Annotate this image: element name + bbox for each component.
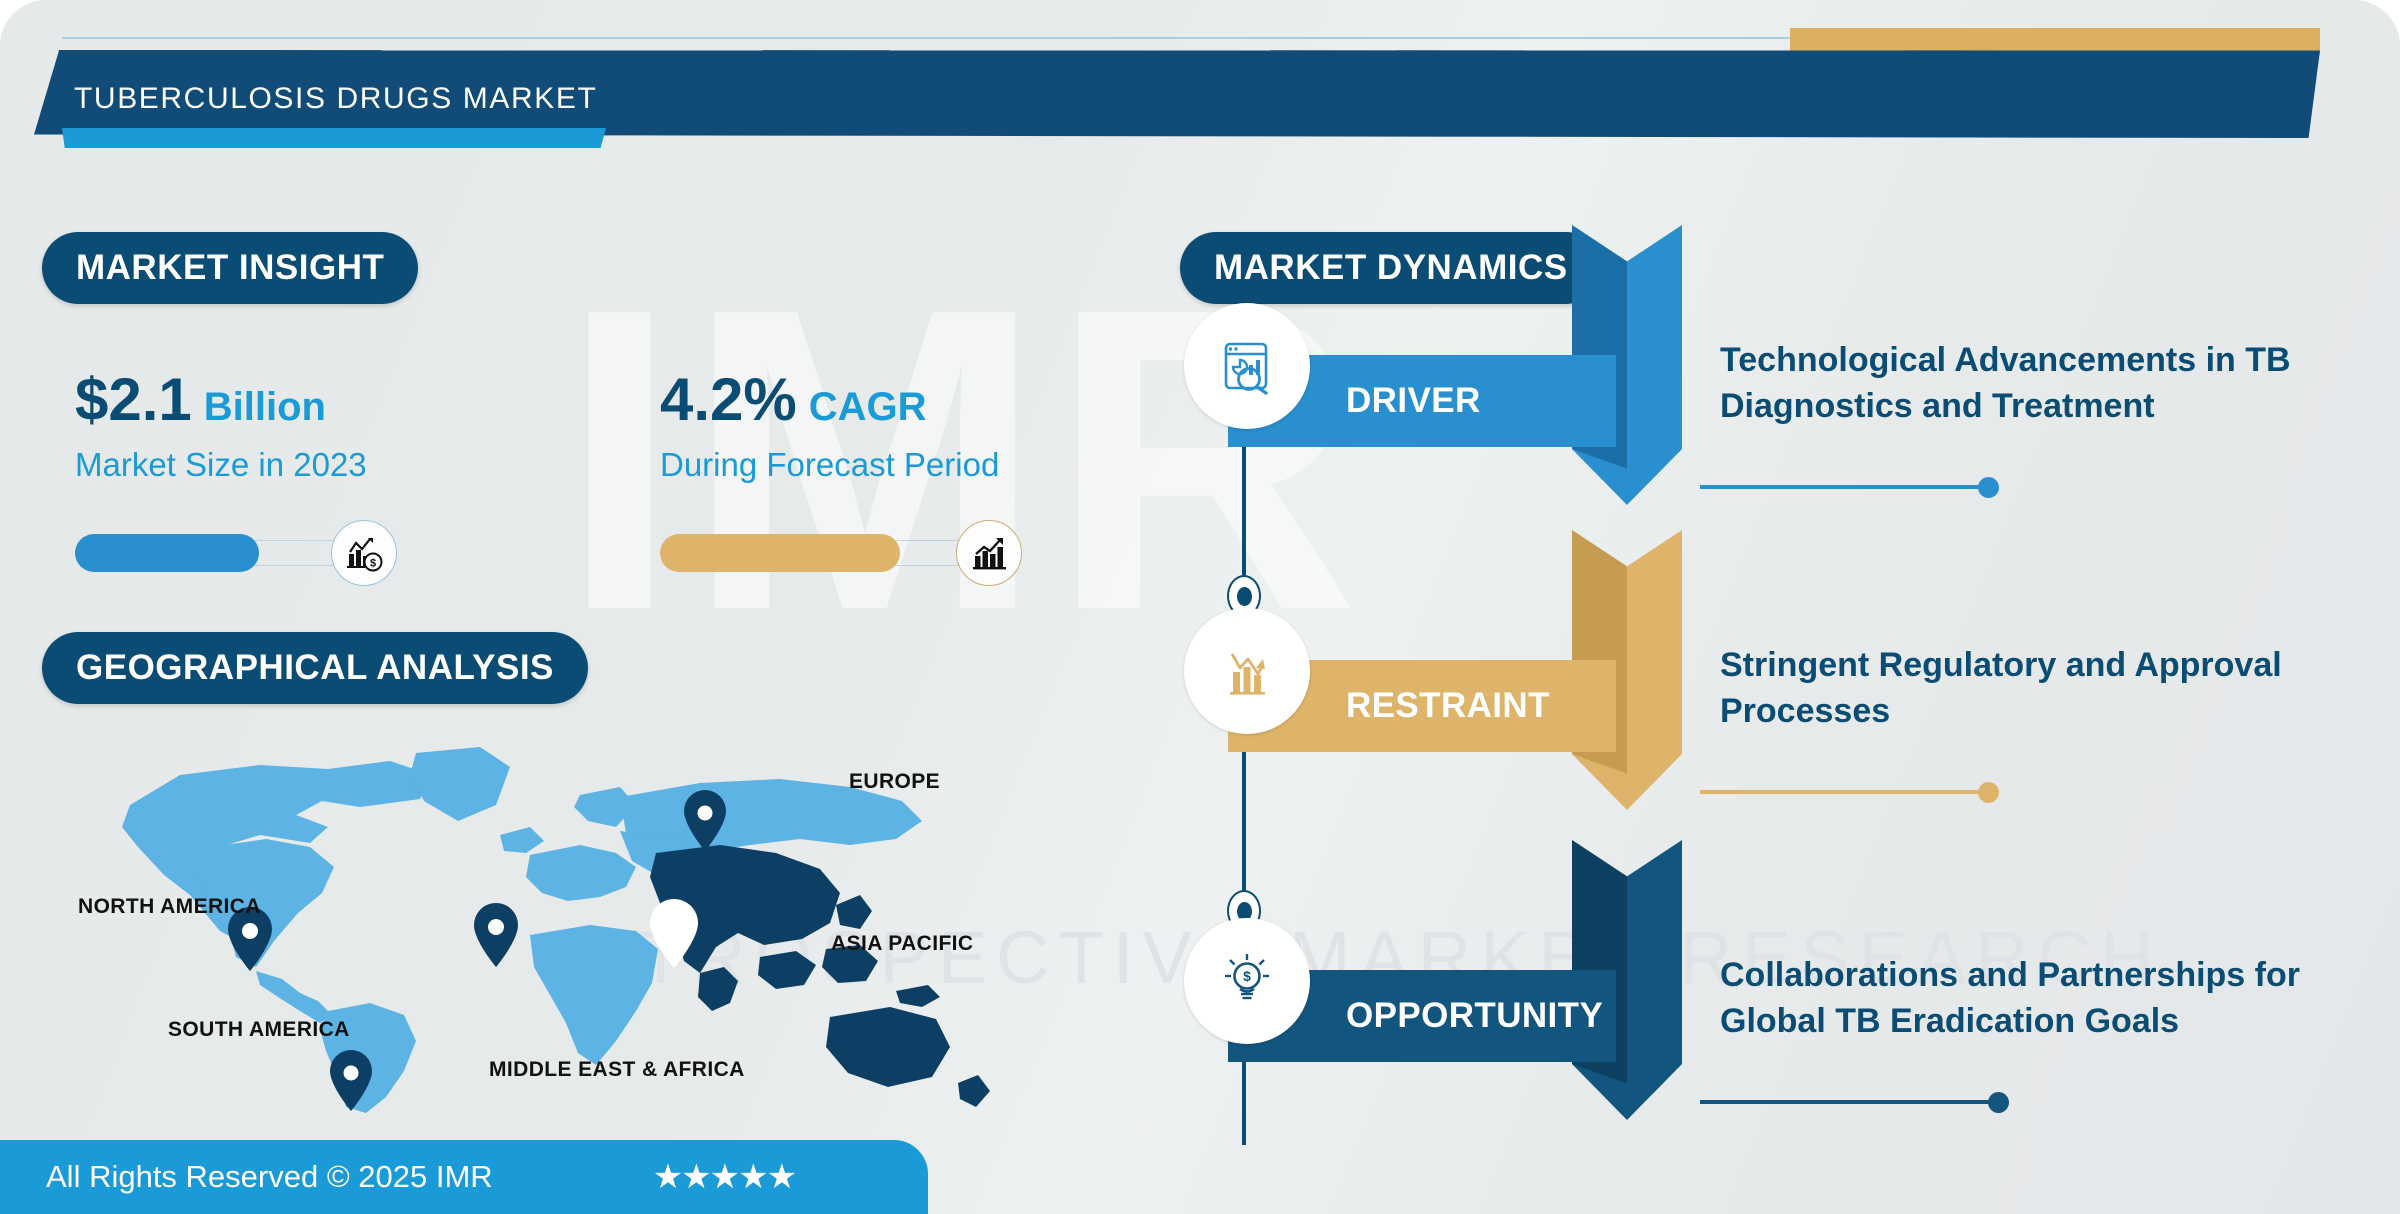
market-dynamics-heading-label: MARKET DYNAMICS — [1214, 248, 1568, 288]
page-title: TUBERCULOSIS DRUGS MARKET — [74, 82, 597, 116]
analytics-search-icon — [1184, 303, 1310, 429]
kpi-cagr-number: 4.2% — [660, 366, 797, 433]
progress-fill — [660, 534, 900, 572]
kpi-cagr-value: 4.2%CAGR — [660, 370, 1090, 430]
rating-stars: ★★★★★ — [653, 1157, 795, 1197]
infographic-canvas: IMR INTROSPECTIVE MARKET RESEARCH TUBERC… — [0, 0, 2400, 1214]
lightbulb-dollar-icon: $ — [1184, 918, 1310, 1044]
driver-leader-dot — [1978, 477, 1999, 498]
kpi-market-size: $2.1Billion Market Size in 2023 $ — [75, 370, 475, 586]
growth-chart-arrow-icon — [956, 520, 1022, 586]
opportunity-tag-label: OPPORTUNITY — [1346, 996, 1603, 1036]
opportunity-description: Collaborations and Partnerships for Glob… — [1720, 953, 2370, 1044]
restraint-description: Stringent Regulatory and Approval Proces… — [1720, 643, 2370, 734]
kpi-cagr-caption: During Forecast Period — [660, 446, 1090, 484]
dynamics-item-driver: DRIVER Technological Advancements in TB … — [1200, 320, 2380, 570]
header-gold-accent — [1790, 28, 2320, 54]
kpi-market-size-unit: Billion — [204, 385, 326, 429]
opportunity-leader-dot — [1988, 1092, 2009, 1113]
bar-chart-dollar-icon: $ — [331, 520, 397, 586]
footer-bar: All Rights Reserved © 2025 IMR ★★★★★ — [0, 1140, 928, 1214]
restraint-leader-line — [1700, 790, 1990, 794]
geographical-analysis-heading-label: GEOGRAPHICAL ANALYSIS — [76, 648, 554, 688]
dynamics-item-restraint: RESTRAINT Stringent Regulatory and Appro… — [1200, 625, 2380, 875]
market-insight-heading-label: MARKET INSIGHT — [76, 248, 384, 288]
kpi-market-size-value: $2.1Billion — [75, 370, 475, 430]
kpi-market-size-number: $2.1 — [75, 366, 192, 433]
copyright-text: All Rights Reserved © 2025 IMR — [46, 1159, 493, 1195]
market-dynamics-heading: MARKET DYNAMICS — [1180, 232, 1602, 304]
header-hairline — [62, 37, 1792, 39]
kpi-market-size-progress: $ — [75, 520, 475, 586]
header-blue-accent — [62, 128, 606, 148]
driver-tag-label: DRIVER — [1346, 381, 1481, 421]
kpi-cagr-unit: CAGR — [809, 385, 927, 429]
dynamics-item-opportunity: OPPORTUNITY $ Collaborations and Partner… — [1200, 935, 2380, 1185]
progress-fill — [75, 534, 259, 572]
declining-bar-chart-icon — [1184, 608, 1310, 734]
map-label-north-america: NORTH AMERICA — [78, 895, 261, 919]
driver-description: Technological Advancements in TB Diagnos… — [1720, 338, 2370, 429]
market-insight-heading: MARKET INSIGHT — [42, 232, 418, 304]
svg-text:$: $ — [370, 558, 376, 570]
kpi-market-size-caption: Market Size in 2023 — [75, 446, 475, 484]
restraint-leader-dot — [1978, 782, 1999, 803]
map-label-europe: EUROPE — [849, 770, 940, 794]
driver-leader-line — [1700, 485, 1990, 489]
svg-text:$: $ — [1243, 968, 1251, 984]
map-label-asia-pacific: ASIA PACIFIC — [831, 932, 973, 956]
kpi-cagr: 4.2%CAGR During Forecast Period — [660, 370, 1090, 586]
kpi-cagr-progress — [660, 520, 1090, 586]
map-label-south-america: SOUTH AMERICA — [168, 1018, 350, 1042]
geographical-analysis-heading: GEOGRAPHICAL ANALYSIS — [42, 632, 588, 704]
opportunity-leader-line — [1700, 1100, 2000, 1104]
restraint-tag-label: RESTRAINT — [1346, 686, 1550, 726]
map-label-middle-east-africa: MIDDLE EAST & AFRICA — [489, 1058, 745, 1082]
